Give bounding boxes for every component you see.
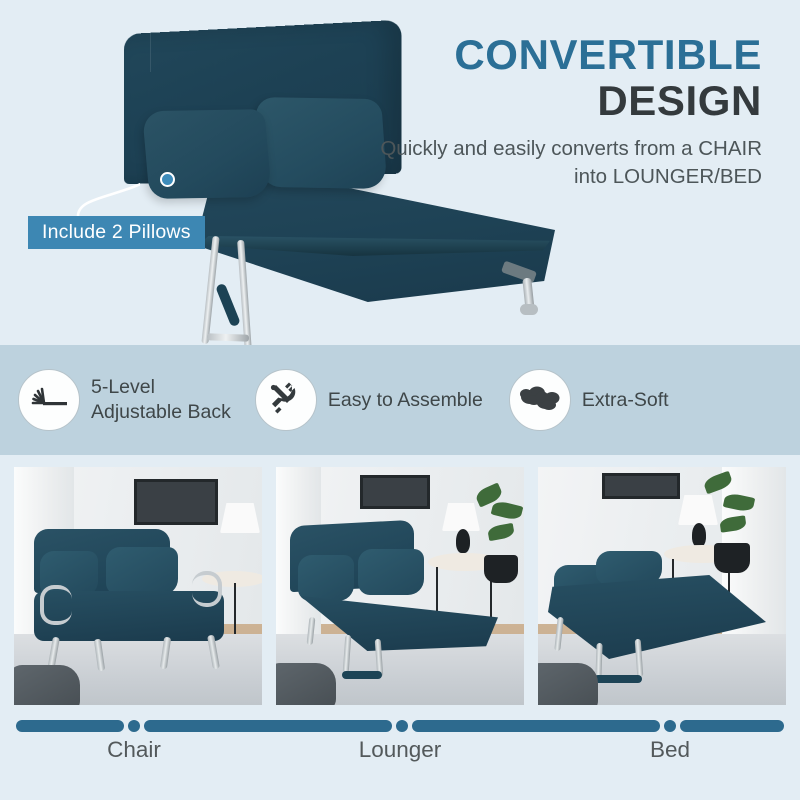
recline-angle-icon: [18, 369, 80, 431]
floor-cushion: [276, 663, 336, 705]
product-leg-frame: [205, 236, 265, 354]
headline-subtitle: Quickly and easily converts from a CHAIR…: [342, 135, 762, 191]
headline-block: CONVERTIBLE DESIGN Quickly and easily co…: [342, 34, 762, 191]
callout-dot-icon: [160, 172, 175, 187]
fabric-foot-strap: [594, 675, 642, 683]
headline-line-1: CONVERTIBLE: [342, 34, 762, 76]
pillow-callout-badge: Include 2 Pillows: [28, 216, 205, 249]
feature-label: 5-Level Adjustable Back: [91, 375, 231, 424]
product-infographic: Include 2 Pillows CONVERTIBLE DESIGN Qui…: [0, 0, 800, 800]
framed-wall-art: [134, 479, 218, 525]
lamp-base: [692, 523, 706, 547]
mode-label-lounger: Lounger: [330, 737, 470, 763]
feature-list: 5-Level Adjustable Back Easy to Assemble: [0, 345, 800, 455]
mode-bar-segment-end[interactable]: [680, 720, 784, 732]
mode-bar-segment-bed[interactable]: [412, 720, 660, 732]
sofa-pillow-right: [358, 549, 424, 595]
headline-line-2: DESIGN: [342, 76, 762, 126]
feature-item-adjustable-back: 5-Level Adjustable Back: [18, 369, 231, 431]
plant-pot: [484, 555, 518, 583]
sofa-pillow-left: [298, 555, 354, 601]
feature-item-easy-assemble: Easy to Assemble: [255, 369, 483, 431]
mode-label-chair: Chair: [64, 737, 204, 763]
floor-cushion: [14, 665, 80, 705]
sofa-pillow-right: [106, 547, 178, 595]
mode-photo-lounger: [276, 467, 524, 705]
backrest-seam: [150, 32, 151, 72]
leg-crossbar: [207, 333, 249, 341]
feature-item-extra-soft: Extra-Soft: [509, 369, 669, 431]
mode-label-row: Chair Lounger Bed: [0, 737, 800, 771]
mode-bar-segment-chair[interactable]: [16, 720, 124, 732]
lamp-shade: [442, 503, 480, 531]
mode-bar-dot-3[interactable]: [664, 720, 676, 732]
mode-bar-dot-1[interactable]: [128, 720, 140, 732]
mode-bar-segment-lounger[interactable]: [144, 720, 392, 732]
fabric-foot-strap: [342, 671, 382, 679]
mode-progress-bar: [0, 716, 800, 734]
feature-label: Extra-Soft: [582, 388, 669, 413]
mode-bar-dot-2[interactable]: [396, 720, 408, 732]
lamp-base: [456, 529, 470, 553]
product-pillow-left: [142, 109, 272, 199]
mode-photo-panels: [0, 467, 800, 705]
bed-leg-front-left: [595, 643, 602, 679]
floor-cushion: [538, 663, 598, 705]
wrench-screwdriver-icon: [255, 369, 317, 431]
framed-wall-art: [360, 475, 430, 509]
soft-cloud-icon: [509, 369, 571, 431]
plant-pot: [714, 543, 750, 573]
mode-label-bed: Bed: [600, 737, 740, 763]
sofa-armrest-right: [192, 571, 222, 607]
sofa-armrest-left: [40, 585, 72, 625]
feature-label: Easy to Assemble: [328, 388, 483, 413]
framed-wall-art: [602, 473, 680, 499]
lamp-shade: [220, 503, 260, 533]
lamp-shade: [678, 495, 718, 525]
mode-photo-bed: [538, 467, 786, 705]
product-leg-right-cap: [520, 304, 538, 315]
mode-photo-chair: [14, 467, 262, 705]
